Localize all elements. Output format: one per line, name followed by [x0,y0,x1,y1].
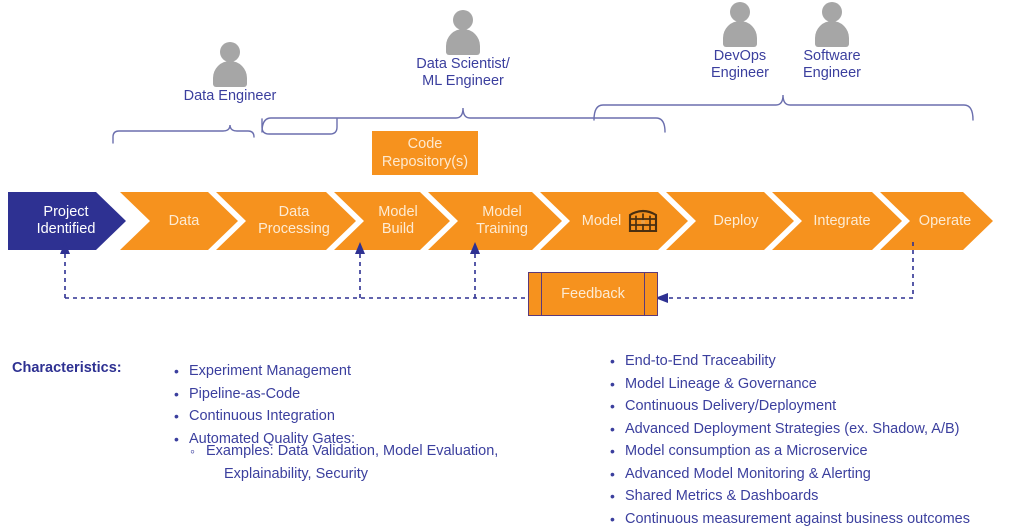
person-icon [718,2,762,46]
list-item: Model consumption as a Microservice [608,440,970,463]
characteristics-title: Characteristics: [12,360,122,376]
list-item: Experiment Management [172,360,355,383]
persona-label-line-1: DevOps [697,48,783,65]
mlops-lifecycle-diagram: Data Engineer Data Scientist/ ML Enginee… [0,0,1020,517]
list-item: Advanced Model Monitoring & Alerting [608,463,890,486]
code-repository-box[interactable]: Code Repository(s) [372,131,478,175]
stage-label: Model [582,213,622,230]
persona-data-engineer: Data Engineer [180,42,280,105]
code-repository-line-1: Code [408,135,443,153]
stage-label-line-1: Model [378,204,418,220]
brace-devops-software [592,90,978,122]
code-repository-line-2: Repository(s) [382,153,468,171]
gate-icon [628,206,658,237]
stage-label-line-2: Build [382,221,414,237]
stage-label: Data [169,213,200,230]
list-item: Continuous Delivery/Deployment [608,395,970,418]
persona-label-line-1: Software [787,48,877,65]
stage-label-line-1: Data [279,204,310,220]
brace-code-repo-leg [260,118,346,138]
stage-label-line-2: Identified [37,221,96,237]
list-item: Continuous measurement against business … [608,508,970,530]
person-icon [810,2,854,46]
stage-label-line-1: Model [482,204,522,220]
stage-label-line-2: Processing [258,221,330,237]
list-item: End-to-End Traceability [608,350,970,373]
persona-label-line-2: Engineer [787,65,877,82]
stage-label-line-1: Project [43,204,88,220]
persona-devops-engineer: DevOps Engineer [697,2,783,82]
feedback-box[interactable]: Feedback [528,272,658,316]
list-item: Model Lineage & Governance [608,373,970,396]
persona-label-line-2: ML Engineer [408,73,518,90]
persona-software-engineer: Software Engineer [787,2,877,82]
stage-label: Operate [919,213,971,230]
persona-label-line-1: Data Scientist/ [408,56,518,73]
list-item-continuation: Explainability, Security [172,463,498,486]
list-item: Continuous Integration [172,405,355,428]
brace-data-engineer [111,112,256,138]
characteristics-right-list: End-to-End Traceability Model Lineage & … [608,350,970,530]
person-icon [208,42,252,86]
list-item: Examples: Data Validation, Model Evaluat… [172,440,498,463]
feedback-label: Feedback [561,286,625,302]
person-icon [441,10,485,54]
list-item: Pipeline-as-Code [172,383,355,406]
characteristics-left-list: Experiment Management Pipeline-as-Code C… [172,360,355,450]
list-item: Advanced Deployment Strategies (ex. Shad… [608,418,970,441]
stage-label: Integrate [813,213,870,230]
persona-data-scientist-ml-engineer: Data Scientist/ ML Engineer [408,10,518,90]
characteristics-left-sublist: Examples: Data Validation, Model Evaluat… [172,440,498,485]
stage-label-line-2: Training [476,221,528,237]
stage-label: Deploy [713,213,758,230]
persona-label-line-2: Engineer [697,65,783,82]
list-item: Shared Metrics & Dashboards [608,485,970,508]
